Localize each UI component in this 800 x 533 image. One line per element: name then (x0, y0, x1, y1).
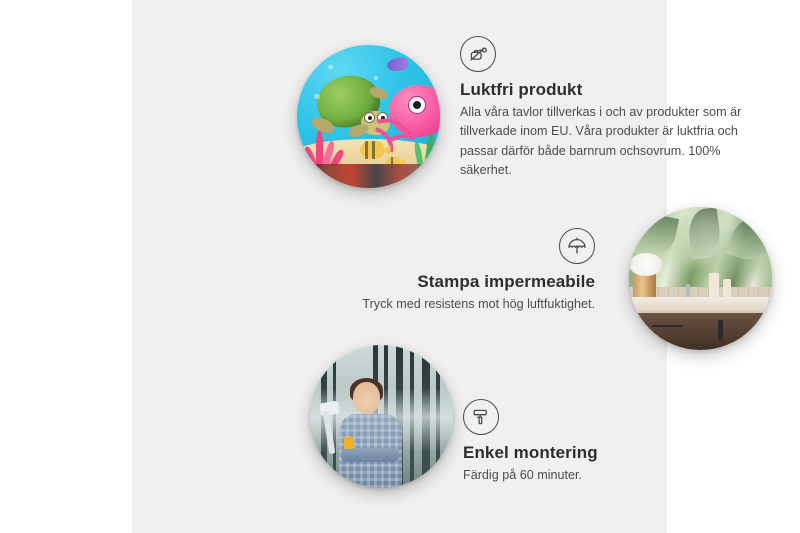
mural-bottom-strip (297, 164, 440, 188)
product-image-bathroom-wallpaper[interactable] (629, 207, 772, 350)
pink-coral (306, 125, 349, 168)
feature-title: Stampa impermeabile (307, 271, 595, 292)
bathroom-scene (629, 207, 772, 350)
bubble (314, 94, 320, 100)
striped-fish (360, 141, 384, 160)
feature-block-easy-assembly: Enkel montering Färdig på 60 minuter. (463, 399, 743, 485)
bubble (374, 76, 378, 80)
person-face (353, 382, 380, 413)
feature-description: Tryck med resistens mot hög luftfuktighe… (307, 295, 595, 314)
product-image-underwater-mural[interactable] (297, 45, 440, 188)
octopus-eye (408, 96, 426, 114)
feature-description: Färdig på 60 minuter. (463, 466, 743, 485)
roller-grip (344, 437, 354, 450)
purple-fish (386, 56, 409, 72)
stone-countertop (629, 297, 772, 314)
feature-title: Enkel montering (463, 442, 743, 463)
product-image-forest-wallpaper[interactable] (310, 345, 453, 488)
feature-block-odour-free: Luktfri produkt Alla våra tavlor tillver… (460, 36, 760, 180)
content-panel: Luktfri produkt Alla våra tavlor tillver… (132, 0, 667, 533)
white-flowers (629, 253, 663, 276)
no-odour-spray-bottle-icon (460, 36, 496, 72)
paint-roller-icon (463, 399, 499, 435)
forest-scene (310, 345, 453, 488)
underwater-scene (297, 45, 440, 188)
feature-block-waterproof: Stampa impermeabile Tryck med resistens … (307, 228, 595, 314)
bubble (328, 65, 332, 69)
page-canvas: Luktfri produkt Alla våra tavlor tillver… (0, 0, 800, 533)
wood-cabinet (632, 313, 772, 350)
umbrella-icon (559, 228, 595, 264)
feature-title: Luktfri produkt (460, 79, 760, 100)
feature-description: Alla våra tavlor tillverkas i och av pro… (460, 103, 760, 180)
person-arm (341, 448, 398, 462)
